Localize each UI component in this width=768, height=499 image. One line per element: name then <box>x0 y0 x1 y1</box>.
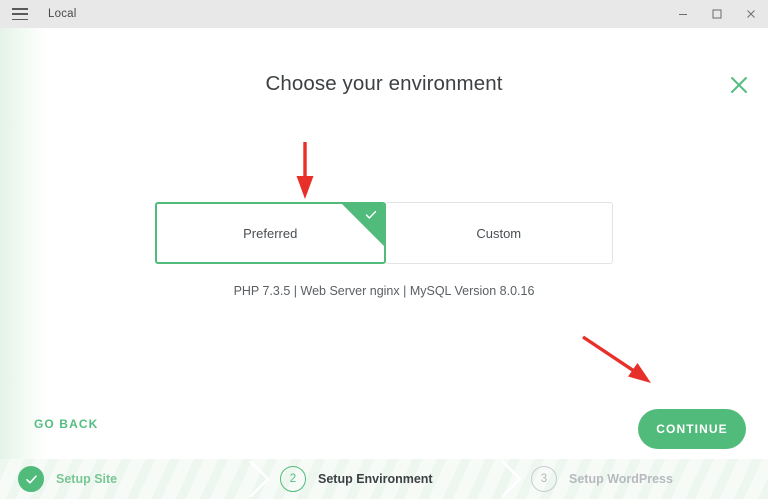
maximize-icon <box>711 8 723 20</box>
environment-card-preferred[interactable]: Preferred <box>155 202 386 264</box>
check-icon <box>25 473 38 486</box>
selected-corner-badge <box>342 204 384 246</box>
setup-progress-bar: Setup Site 2 Setup Environment 3 Setup W… <box>0 459 768 499</box>
step-1-marker <box>18 466 44 492</box>
local-app-window: Local Choose your environment <box>0 0 768 499</box>
close-dialog-icon <box>728 74 750 96</box>
step-1-label: Setup Site <box>56 472 117 486</box>
window-controls <box>666 0 768 28</box>
close-dialog-button[interactable] <box>726 72 752 98</box>
close-icon <box>745 8 757 20</box>
environment-card-custom-label: Custom <box>476 226 521 241</box>
step-2-label: Setup Environment <box>318 472 433 486</box>
maximize-button[interactable] <box>700 0 734 28</box>
main-content: Choose your environment Preferred Custom <box>0 28 768 459</box>
step-2-marker: 2 <box>280 466 306 492</box>
environment-options: Preferred Custom <box>155 202 613 264</box>
page-title: Choose your environment <box>0 72 768 96</box>
environment-info-text: PHP 7.3.5 | Web Server nginx | MySQL Ver… <box>0 284 768 298</box>
check-icon <box>365 209 377 221</box>
step-item-setup-wordpress[interactable]: 3 Setup WordPress <box>531 459 673 499</box>
close-window-button[interactable] <box>734 0 768 28</box>
go-back-button[interactable]: GO BACK <box>34 417 98 431</box>
window-title: Local <box>48 8 77 20</box>
step-3-marker: 3 <box>531 466 557 492</box>
environment-card-custom[interactable]: Custom <box>385 202 614 264</box>
environment-card-preferred-label: Preferred <box>243 226 297 241</box>
continue-button[interactable]: CONTINUE <box>638 409 746 449</box>
hamburger-icon[interactable] <box>12 8 28 20</box>
step-item-setup-environment[interactable]: 2 Setup Environment <box>280 459 433 499</box>
step-item-setup-site[interactable]: Setup Site <box>18 459 117 499</box>
minimize-button[interactable] <box>666 0 700 28</box>
window-titlebar: Local <box>0 0 768 28</box>
minimize-icon <box>677 8 689 20</box>
step-3-label: Setup WordPress <box>569 472 673 486</box>
